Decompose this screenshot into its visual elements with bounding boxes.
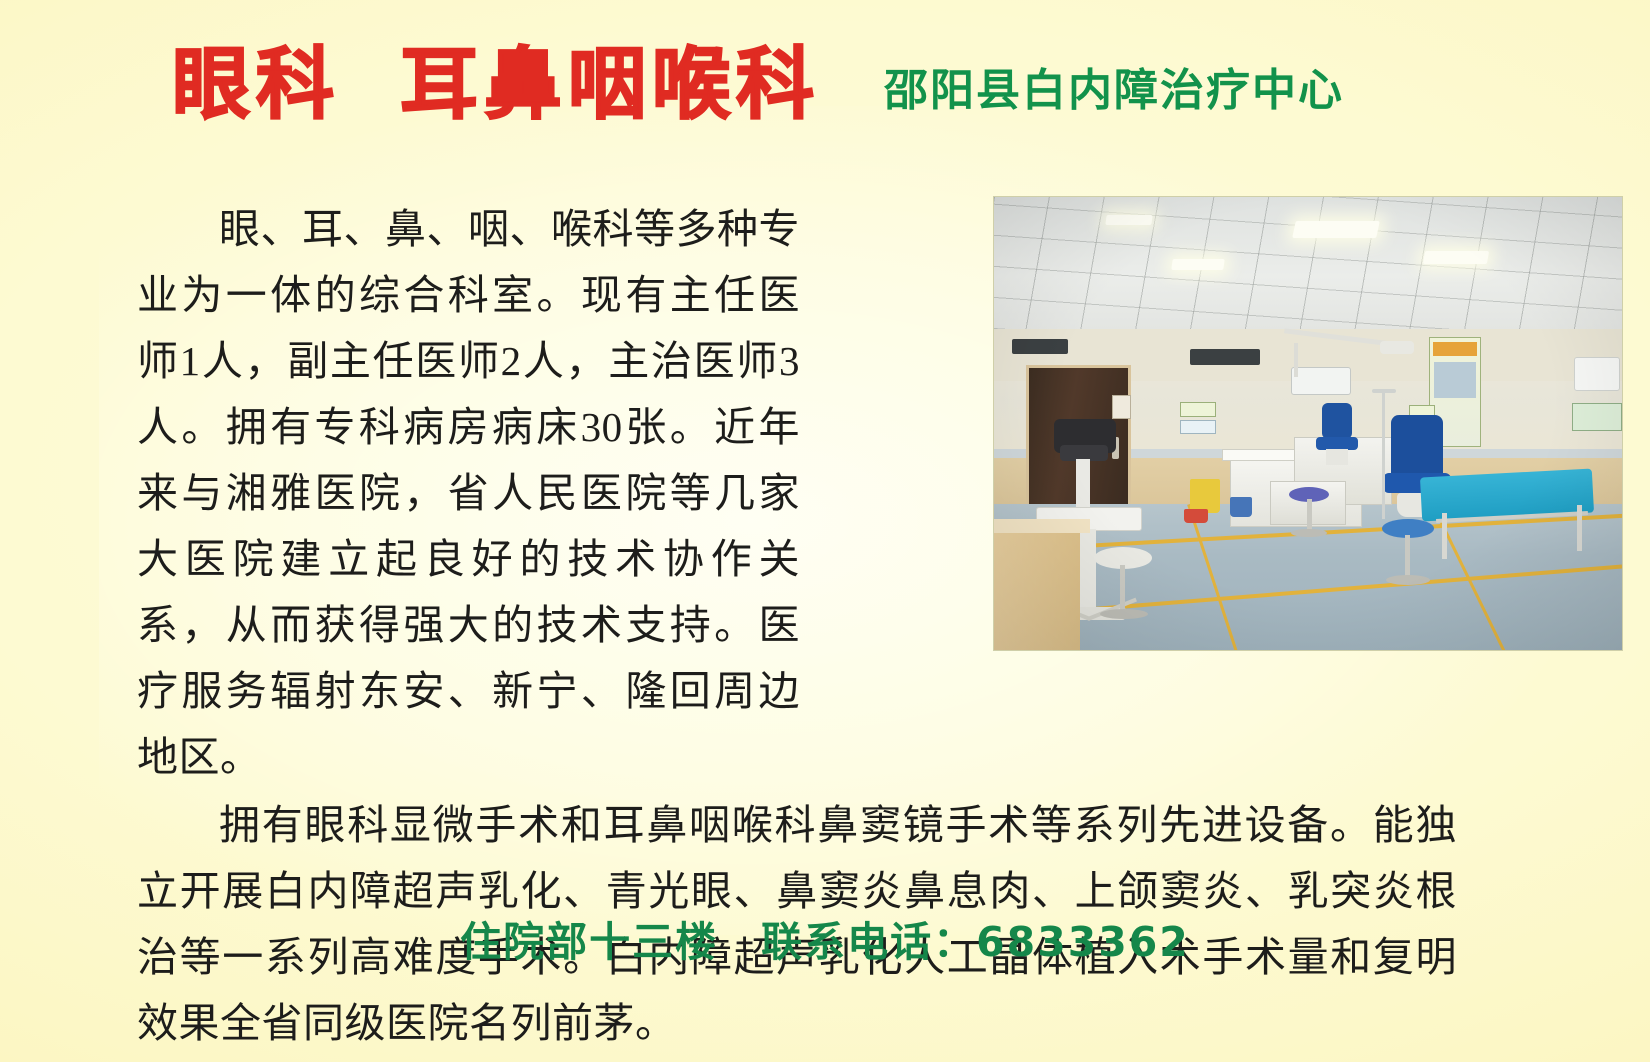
center-name-title: 邵阳县白内障治疗中心 <box>884 69 1344 113</box>
poster-header: 眼科 耳鼻咽喉科 邵阳县白内障治疗中心 <box>0 46 1650 124</box>
footer-contact-line: 住院部十三楼 联系电话：6833362 <box>460 918 1190 966</box>
department-title-eye: 眼科 <box>172 46 340 124</box>
poster-footer: 住院部十三楼 联系电话：6833362 <box>0 908 1650 968</box>
poster-root: 眼科 耳鼻咽喉科 邵阳县白内障治疗中心 <box>0 0 1650 1062</box>
paragraph-overview: 眼、耳、鼻、咽、喉科等多种专业为一体的综合科室。现有主任医师1人，副主任医师2人… <box>137 196 800 790</box>
department-title-ent: 耳鼻咽喉科 <box>400 46 820 124</box>
